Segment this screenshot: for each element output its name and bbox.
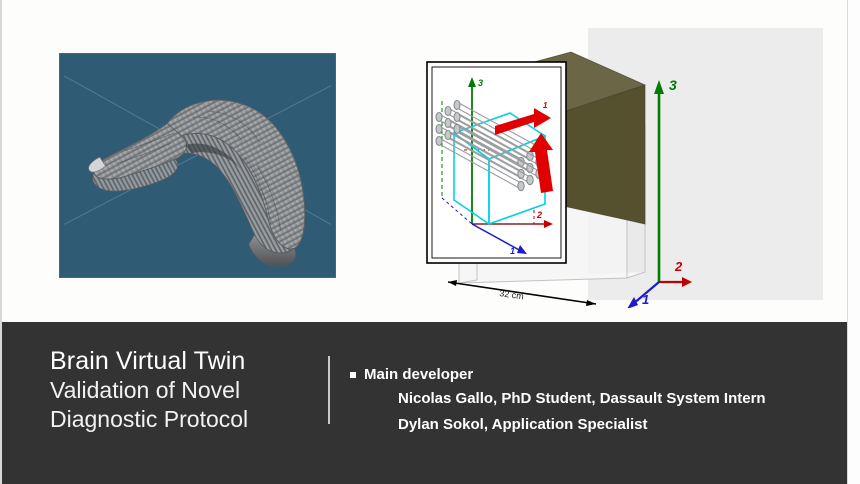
bullet-row: Main developer bbox=[350, 364, 766, 386]
footer-vertical-divider bbox=[328, 356, 330, 424]
slide-content-area: 32 cm 3 2 1 bbox=[2, 0, 847, 322]
presentation-slide: 32 cm 3 2 1 bbox=[0, 0, 860, 484]
callout-arrow-label: 1 bbox=[543, 101, 548, 110]
page-subtitle-line1: Validation of Novel bbox=[50, 376, 312, 405]
title-block: Brain Virtual Twin Validation of Novel D… bbox=[50, 346, 312, 434]
tank-axis2-label: 2 bbox=[674, 259, 683, 274]
callout-axis1-label: 1 bbox=[510, 246, 515, 256]
page-subtitle-line2: Diagnostic Protocol bbox=[50, 405, 312, 434]
callout-axis3-label: 3 bbox=[478, 78, 483, 88]
tank-dimension: 32 cm bbox=[448, 280, 596, 306]
credits-block: Main developer Nicolas Gallo, PhD Studen… bbox=[350, 364, 766, 438]
callout-axis2-label: 2 bbox=[536, 210, 542, 220]
square-bullet-icon bbox=[350, 372, 356, 378]
tank-dimension-label: 32 cm bbox=[499, 288, 525, 301]
schematic-canvas: 32 cm 3 2 1 bbox=[417, 28, 849, 308]
tank-axis3-label: 3 bbox=[669, 77, 677, 93]
tank-axis1-label: 1 bbox=[642, 292, 649, 307]
callout-detail-box: 3 2 1 bbox=[427, 62, 566, 263]
voxel-brain-render-canvas bbox=[60, 54, 335, 277]
credit-item: Dylan Sokol, Application Specialist bbox=[398, 412, 766, 438]
credit-item: Nicolas Gallo, PhD Student, Dassault Sys… bbox=[398, 386, 766, 412]
page-title: Brain Virtual Twin bbox=[50, 346, 312, 376]
probe-and-tank-schematic: 32 cm 3 2 1 bbox=[417, 28, 849, 308]
bullet-label: Main developer bbox=[364, 364, 473, 386]
slide-footer: Brain Virtual Twin Validation of Novel D… bbox=[2, 322, 847, 484]
voxel-brain-render bbox=[59, 53, 336, 278]
